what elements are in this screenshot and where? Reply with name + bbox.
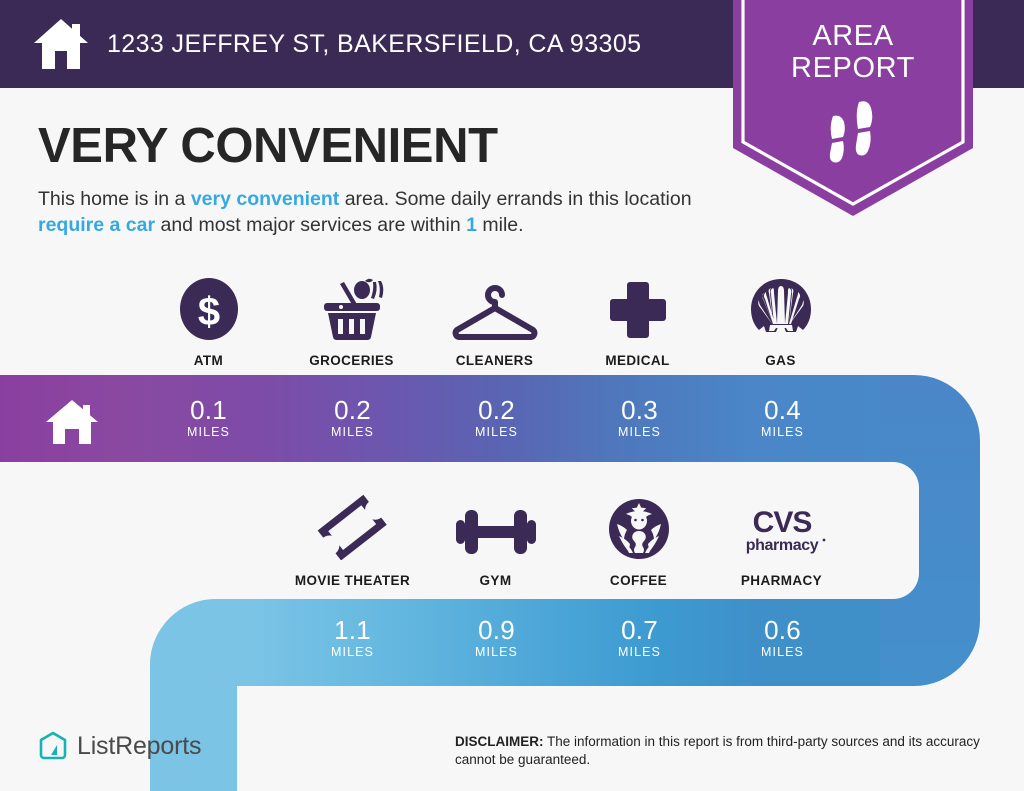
category-label: GAS [765, 353, 795, 368]
category-groceries: GROCERIES [280, 278, 423, 368]
category-gym: GYM [424, 498, 567, 588]
cvs-icon: CVS pharmacy [732, 498, 832, 560]
desc-part-4: mile. [477, 214, 524, 236]
category-label: GROCERIES [309, 353, 394, 368]
desc-highlight-convenience: very convenient [191, 188, 339, 210]
ribbon-home-icon [45, 399, 99, 450]
disclaimer-label: DISCLAIMER: [455, 734, 544, 749]
shell-gas-icon [749, 278, 813, 340]
category-cleaners: CLEANERS [423, 278, 566, 368]
listreports-house-icon [38, 731, 68, 761]
disclaimer: DISCLAIMER: The information in this repo… [455, 733, 985, 769]
desc-part-2: area. Some daily errands in this locatio… [339, 188, 691, 210]
desc-part-3: and most major services are within [155, 214, 466, 236]
dumbbell-icon [454, 498, 538, 560]
svg-text:$: $ [197, 290, 219, 334]
category-movie-theater: MOVIE THEATER [281, 498, 424, 588]
category-label: ATM [194, 353, 223, 368]
ticket-icon [317, 498, 389, 560]
category-coffee: COFFEE [567, 498, 710, 588]
medical-cross-icon [608, 278, 668, 340]
category-label: MOVIE THEATER [295, 573, 410, 588]
hanger-icon [447, 278, 543, 340]
category-medical: MEDICAL [566, 278, 709, 368]
category-label: PHARMACY [741, 573, 822, 588]
top-category-icons: $ ATM [137, 278, 852, 368]
starbucks-icon [608, 498, 670, 560]
page-title: VERY CONVENIENT [38, 122, 498, 171]
listreports-wordmark: ListReports [77, 731, 201, 761]
svg-text:CVS: CVS [752, 506, 811, 539]
desc-part-1: This home is in a [38, 188, 191, 210]
listreports-logo[interactable]: ListReports [38, 731, 201, 761]
property-address: 1233 JEFFREY ST, BAKERSFIELD, CA 93305 [107, 30, 641, 59]
category-label: MEDICAL [605, 353, 669, 368]
category-label: GYM [480, 573, 512, 588]
category-gas: GAS [709, 278, 852, 368]
svg-text:pharmacy: pharmacy [745, 537, 818, 554]
category-pharmacy: CVS pharmacy PHARMACY [710, 498, 853, 588]
desc-highlight-distance: 1 [466, 214, 477, 236]
dollar-circle-icon: $ [178, 278, 240, 340]
description-text: This home is in a very convenient area. … [38, 186, 728, 238]
infographic-canvas: 0.1 MILES 0.2 MILES 0.2 MILES 0.3 MILES … [0, 0, 1024, 791]
category-label: CLEANERS [456, 353, 533, 368]
desc-highlight-transport: require a car [38, 214, 155, 236]
area-report-badge: AREA REPORT [733, 0, 973, 216]
bottom-category-icons: MOVIE THEATER GYM [281, 498, 853, 588]
grocery-basket-icon [316, 278, 388, 340]
home-icon [33, 18, 89, 70]
category-label: COFFEE [610, 573, 667, 588]
category-atm: $ ATM [137, 278, 280, 368]
